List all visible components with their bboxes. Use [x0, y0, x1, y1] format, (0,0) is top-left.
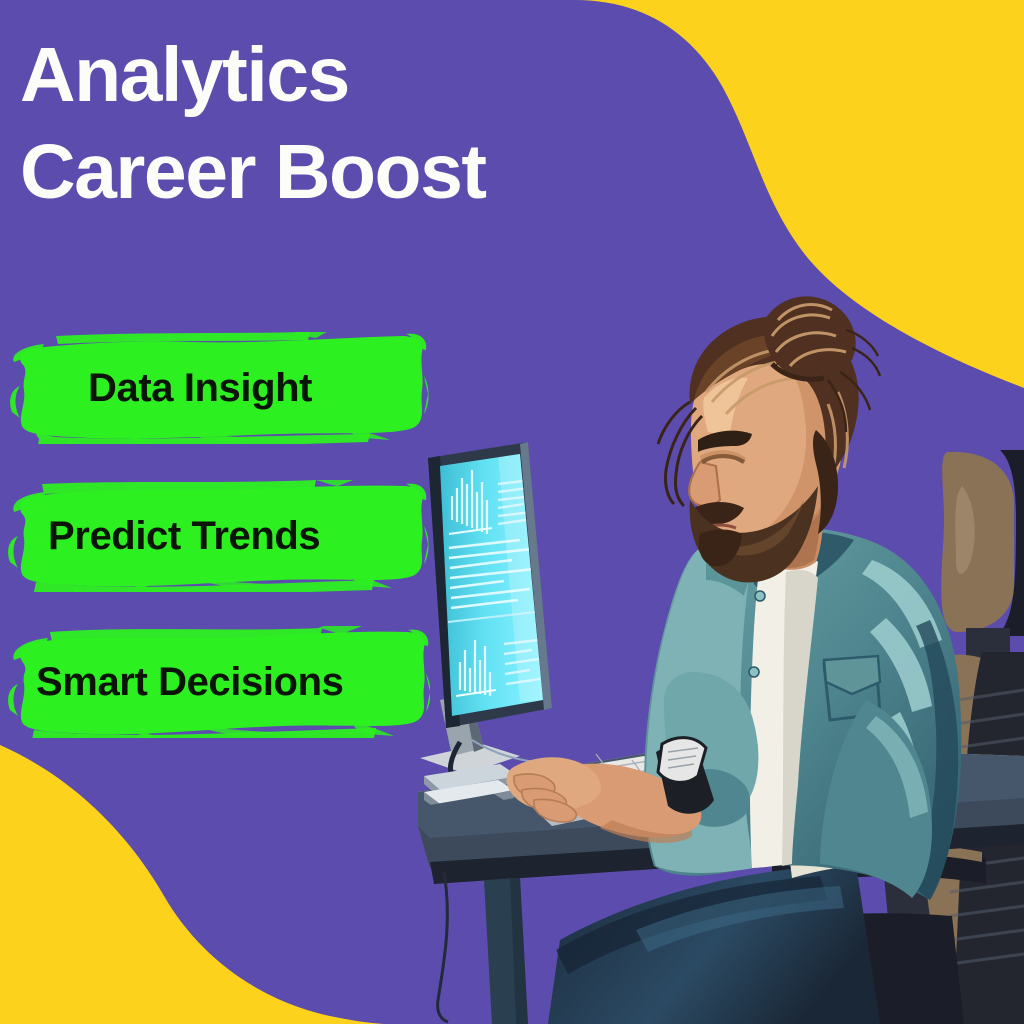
feature-badge-label: Predict Trends — [8, 514, 320, 559]
watch-face — [658, 738, 706, 783]
jacket-button-2 — [749, 667, 759, 677]
chair-headrest — [941, 452, 1014, 632]
poster-canvas: Analytics Career Boost Data I — [0, 0, 1024, 1024]
feature-badge-smart-decisions[interactable]: Smart Decisions — [8, 626, 430, 738]
feature-badge-label: Smart Decisions — [8, 660, 343, 705]
feature-badge-label: Data Insight — [10, 366, 312, 411]
feature-badge-predict-trends[interactable]: Predict Trends — [8, 480, 430, 592]
cable-hanging — [438, 872, 448, 1022]
desktop-monitor — [420, 442, 560, 790]
title-line-2: Career Boost — [20, 135, 660, 210]
title-line-1: Analytics — [20, 38, 660, 113]
feature-badge-data-insight[interactable]: Data Insight — [10, 332, 430, 444]
page-title: Analytics Career Boost — [20, 38, 660, 211]
jacket-button-1 — [755, 591, 765, 601]
